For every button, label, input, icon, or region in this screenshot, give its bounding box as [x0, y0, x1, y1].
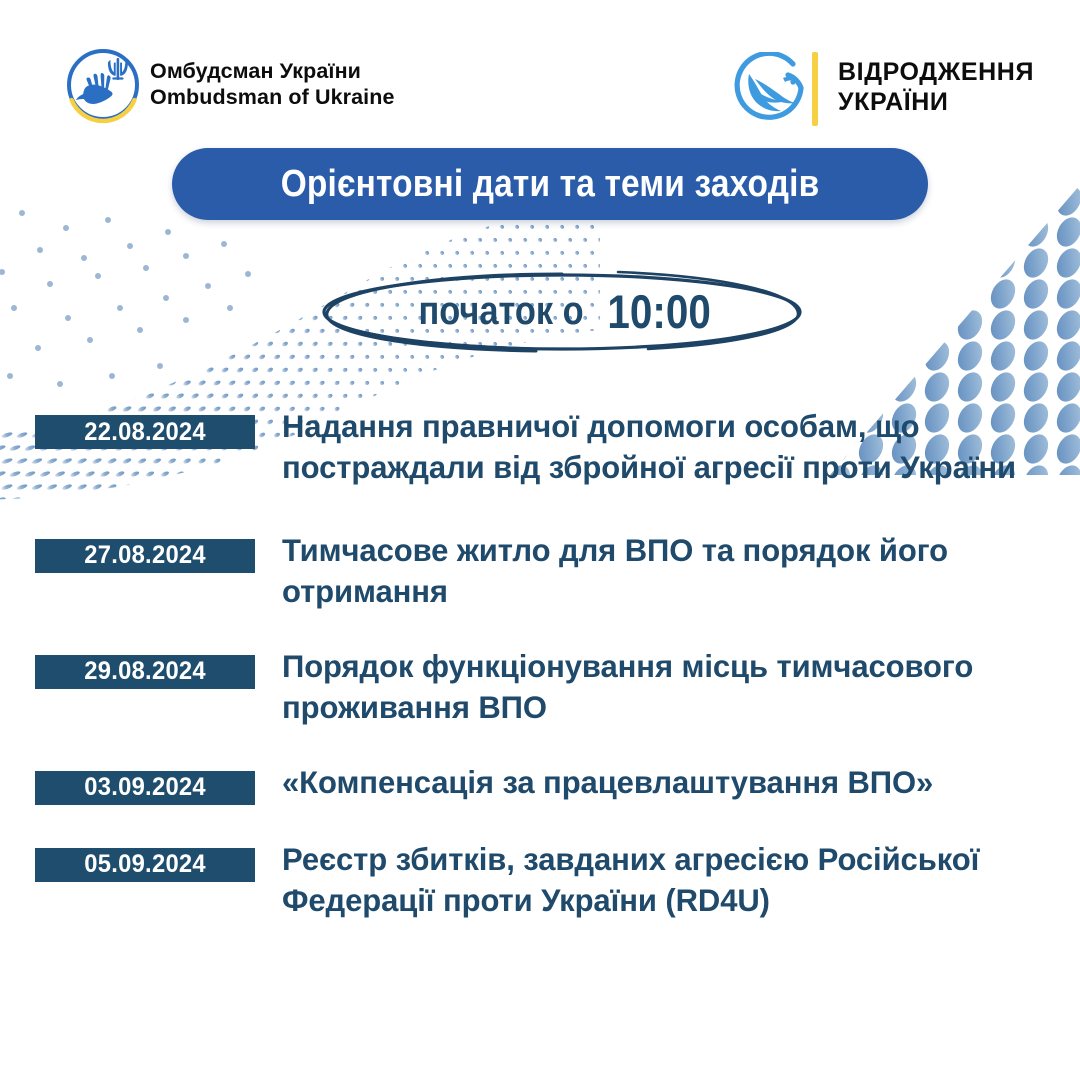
schedule-topic-text: Порядок функціонування місць тимчасового… — [282, 646, 1040, 728]
header-logos: Омбудсман України Ombudsman of Ukraine В… — [0, 0, 1080, 140]
schedule-date-badge: 05.09.2024 — [35, 848, 255, 882]
schedule-row: 27.08.2024Тимчасове житло для ВПО та пор… — [0, 530, 1080, 612]
schedule-row: 22.08.2024Надання правничої допомоги осо… — [0, 406, 1080, 488]
schedule-row: 03.09.2024«Компенсація за працевлаштуван… — [0, 762, 1080, 805]
ombudsman-logo-icon — [62, 46, 144, 124]
poster-canvas: Омбудсман України Ombudsman of Ukraine В… — [0, 0, 1080, 1080]
schedule-topic-text: Тимчасове житло для ВПО та порядок його … — [282, 530, 1040, 612]
ombudsman-wordmark: Омбудсман України Ombudsman of Ukraine — [150, 58, 395, 110]
page-title: Орієнтовні дати та теми заходів — [281, 163, 820, 206]
schedule-date-text: 05.09.2024 — [84, 850, 206, 879]
start-time-label: початок о — [418, 289, 583, 334]
schedule-date-badge: 27.08.2024 — [35, 539, 255, 573]
schedule-date-text: 22.08.2024 — [84, 418, 206, 447]
schedule-topic-text: Надання правничої допомоги особам, що по… — [282, 406, 1040, 488]
schedule-date-text: 27.08.2024 — [84, 541, 206, 570]
title-banner: Орієнтовні дати та теми заходів — [172, 148, 928, 220]
start-time-badge: початок о 10:00 — [318, 268, 806, 354]
schedule-date-badge: 29.08.2024 — [35, 655, 255, 689]
schedule-row: 29.08.2024Порядок функціонування місць т… — [0, 646, 1080, 728]
ombudsman-name-uk: Омбудсман України — [150, 58, 395, 84]
schedule-date-badge: 22.08.2024 — [35, 415, 255, 449]
revival-name-line2: УКРАЇНИ — [838, 88, 1034, 118]
schedule-date-text: 29.08.2024 — [84, 657, 206, 686]
schedule-list: 22.08.2024Надання правничої допомоги осо… — [0, 406, 1080, 921]
start-time-value: 10:00 — [607, 284, 710, 339]
logo-divider-bar — [812, 52, 818, 126]
schedule-topic-text: Реєстр збитків, завданих агресією Російс… — [282, 839, 1040, 921]
schedule-topic-text: «Компенсація за працевлаштування ВПО» — [282, 762, 1040, 803]
schedule-date-badge: 03.09.2024 — [35, 771, 255, 805]
schedule-date-text: 03.09.2024 — [84, 773, 206, 802]
revival-name-line1: ВІДРОДЖЕННЯ — [838, 58, 1034, 88]
revival-wordmark: ВІДРОДЖЕННЯ УКРАЇНИ — [838, 58, 1034, 117]
schedule-row: 05.09.2024Реєстр збитків, завданих агрес… — [0, 839, 1080, 921]
ombudsman-name-en: Ombudsman of Ukraine — [150, 84, 395, 110]
revival-logo-icon — [731, 52, 809, 124]
